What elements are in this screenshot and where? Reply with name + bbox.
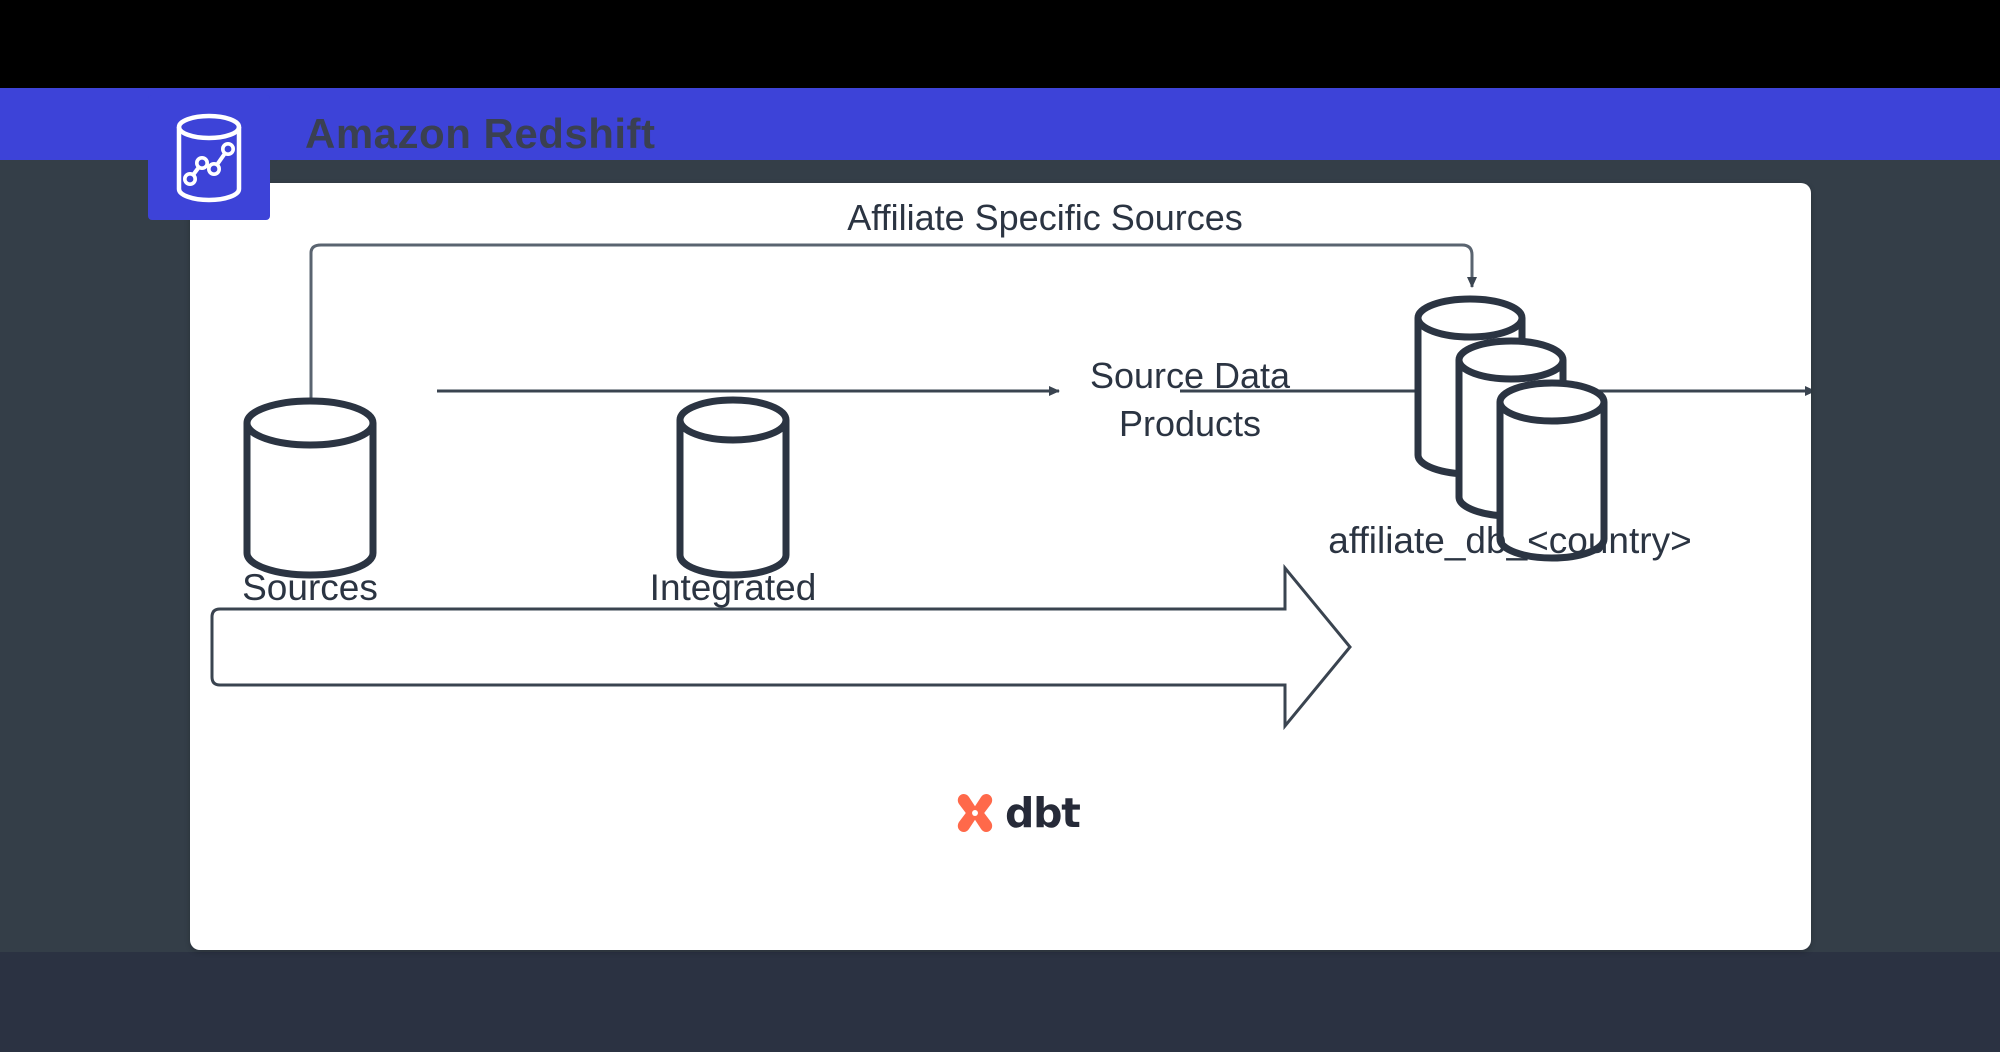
- dbt-wordmark: dbt: [1005, 793, 1080, 834]
- dbt-x-icon: [952, 790, 998, 836]
- slide-canvas: Amazon Redshift: [0, 0, 2000, 1052]
- node-label-integrated: Integrated: [650, 567, 817, 608]
- bottom-band: [0, 952, 2000, 1052]
- top-letterbox: [0, 0, 2000, 88]
- node-integrated: [680, 400, 786, 575]
- brand-band-lower: [0, 140, 2000, 158]
- node-label-affiliate-db: affiliate_db_<country>: [1328, 520, 1691, 561]
- edge-label-products: Products: [1119, 403, 1261, 444]
- edge-label-source-data: Source Data: [1090, 355, 1291, 396]
- dbt-logo: dbt: [952, 790, 1080, 836]
- node-label-sources: Sources: [242, 567, 378, 608]
- node-sources: [247, 401, 373, 575]
- edge-label-affiliate-specific-sources: Affiliate Specific Sources: [847, 197, 1243, 238]
- page-title: Amazon Redshift: [305, 110, 656, 158]
- edge-sources-to-affiliate: [311, 245, 1472, 412]
